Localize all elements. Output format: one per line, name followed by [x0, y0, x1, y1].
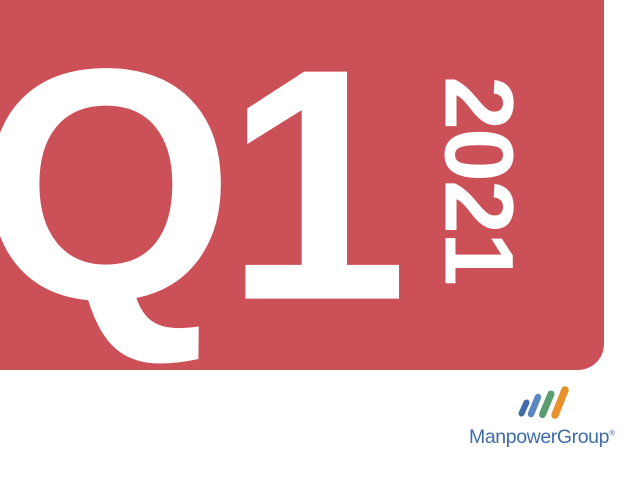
year-container: 2021 — [414, 40, 544, 320]
title-slide: Q1 2021 ManpowerGroup® — [0, 0, 640, 480]
brand-wordmark: ManpowerGroup® — [462, 426, 622, 449]
quarter-heading: Q1 — [0, 60, 398, 311]
brand-name-text: ManpowerGroup — [469, 426, 609, 448]
trademark-icon: ® — [609, 429, 615, 438]
brand-lockup: ManpowerGroup® — [462, 384, 622, 460]
hero-panel: Q1 2021 — [0, 0, 604, 370]
year-heading: 2021 — [431, 76, 528, 284]
manpowergroup-logo-icon — [516, 384, 574, 420]
